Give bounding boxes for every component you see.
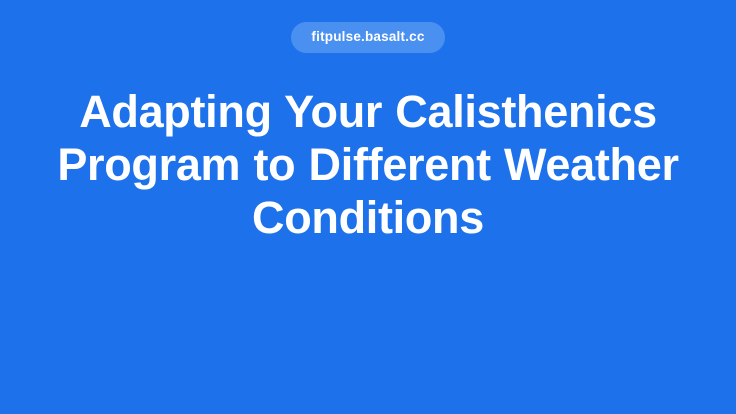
page-title: Adapting Your Calisthenics Program to Di… [48,85,688,244]
site-domain-badge: fitpulse.basalt.cc [291,22,444,53]
social-share-card: fitpulse.basalt.cc Adapting Your Calisth… [0,0,736,414]
